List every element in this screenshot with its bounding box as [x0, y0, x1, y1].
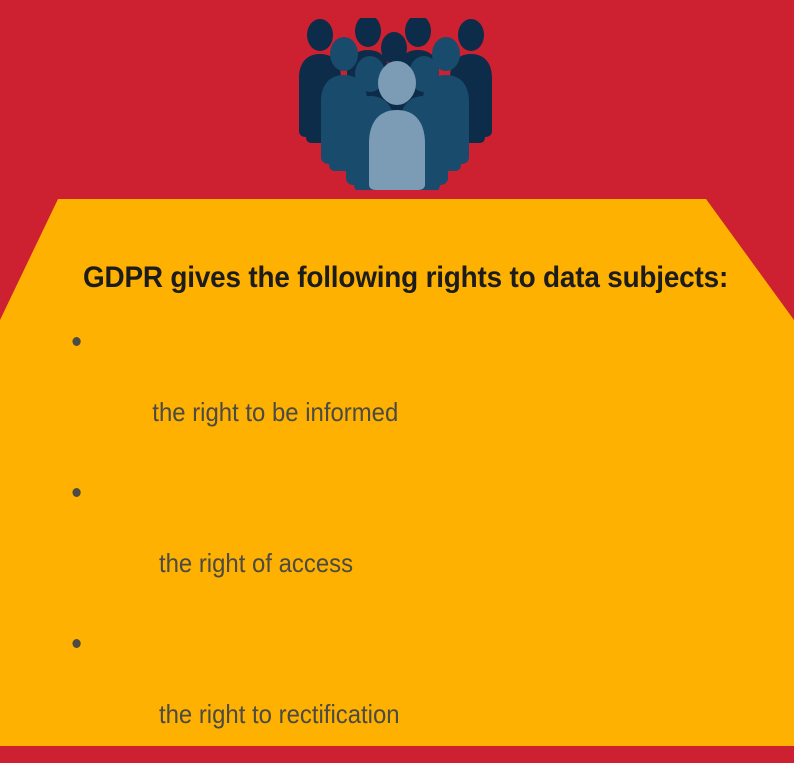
page-title: GDPR gives the following rights to data …	[83, 261, 728, 295]
list-item: the right to rectification	[66, 624, 734, 763]
bullet-dot-icon	[72, 337, 80, 346]
list-item-label: the right to be informed	[152, 397, 398, 427]
gdpr-rights-poster: GDPR gives the following rights to data …	[0, 0, 794, 763]
bullet-dot-icon	[72, 488, 80, 497]
content-area: GDPR gives the following rights to data …	[0, 0, 794, 763]
list-item-label: the right to rectification	[152, 699, 399, 729]
list-item: the right of access	[66, 473, 734, 617]
list-item: the right to be informed	[66, 322, 734, 466]
rights-list: the right to be informed the right of ac…	[66, 322, 792, 763]
bullet-dot-icon	[72, 639, 80, 648]
list-item-label: the right of access	[152, 548, 353, 578]
